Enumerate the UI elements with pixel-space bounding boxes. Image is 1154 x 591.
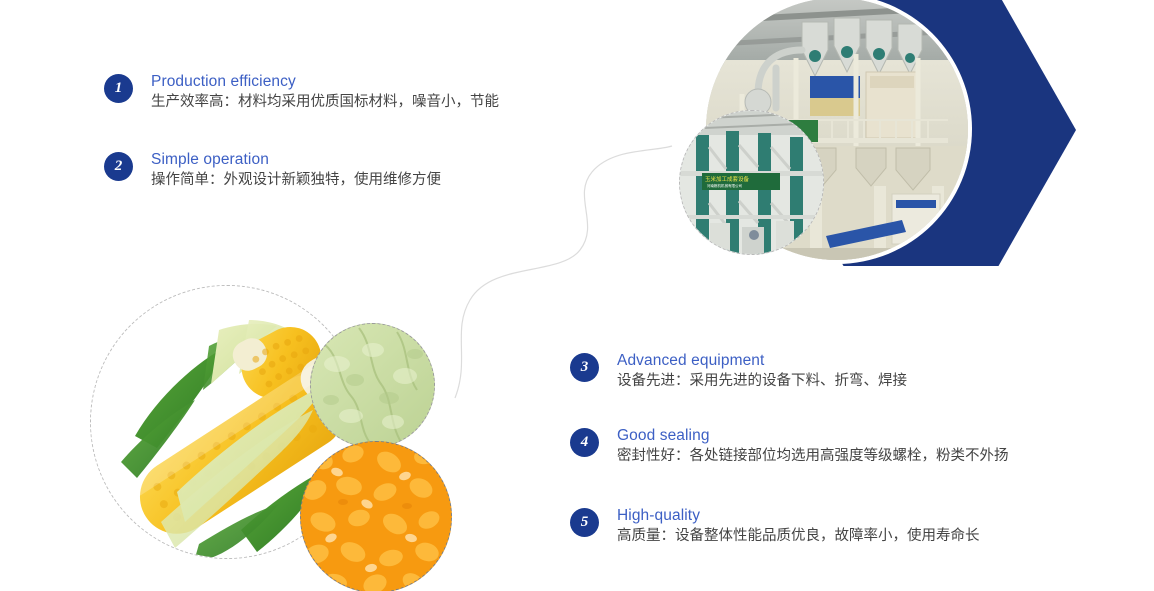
feature-desc-1: 生产效率高：材料均采用优质国标材料，噪音小，节能 [151, 92, 499, 113]
feature-text-1: Production efficiency 生产效率高：材料均采用优质国标材料，… [151, 72, 499, 113]
feature-badge-2: 2 [104, 152, 133, 181]
green-corn-paste-photo [310, 323, 435, 448]
feature-badge-5: 5 [570, 508, 599, 537]
svg-text:河南粮机机械有限公司: 河南粮机机械有限公司 [707, 183, 742, 188]
feature-item-2[interactable]: 2 Simple operation 操作简单：外观设计新颖独特，使用维修方便 [104, 150, 441, 191]
feature-text-5: High-quality 高质量：设备整体性能品质优良，故障率小，使用寿命长 [617, 506, 980, 547]
promo-feature-banner: 玉米加工成套设备 河南粮机机械有限公司 [0, 0, 1154, 591]
corn-product-photo-group [84, 283, 484, 591]
orange-corn-grits-photo [300, 441, 452, 591]
green-milling-machinery-photo: 玉米加工成套设备 河南粮机机械有限公司 [679, 110, 824, 255]
feature-badge-1: 1 [104, 74, 133, 103]
feature-item-1[interactable]: 1 Production efficiency 生产效率高：材料均采用优质国标材… [104, 72, 499, 113]
feature-title-2: Simple operation [151, 150, 441, 169]
svg-text:玉米加工成套设备: 玉米加工成套设备 [705, 175, 750, 183]
feature-title-1: Production efficiency [151, 72, 499, 91]
plant-photo-group: 玉米加工成套设备 河南粮机机械有限公司 [660, 0, 1154, 284]
feature-text-4: Good sealing 密封性好：各处链接部位均选用高强度等级螺栓，粉类不外扬 [617, 426, 1009, 467]
feature-badge-3: 3 [570, 353, 599, 382]
feature-badge-4: 4 [570, 428, 599, 457]
feature-text-3: Advanced equipment 设备先进：采用先进的设备下料、折弯、焊接 [617, 351, 907, 392]
feature-text-2: Simple operation 操作简单：外观设计新颖独特，使用维修方便 [151, 150, 441, 191]
feature-title-5: High-quality [617, 506, 980, 525]
feature-desc-2: 操作简单：外观设计新颖独特，使用维修方便 [151, 170, 441, 191]
feature-item-5[interactable]: 5 High-quality 高质量：设备整体性能品质优良，故障率小，使用寿命长 [570, 506, 980, 547]
feature-item-4[interactable]: 4 Good sealing 密封性好：各处链接部位均选用高强度等级螺栓，粉类不… [570, 426, 1009, 467]
feature-desc-3: 设备先进：采用先进的设备下料、折弯、焊接 [617, 371, 907, 392]
feature-title-3: Advanced equipment [617, 351, 907, 370]
feature-desc-5: 高质量：设备整体性能品质优良，故障率小，使用寿命长 [617, 526, 980, 547]
feature-desc-4: 密封性好：各处链接部位均选用高强度等级螺栓，粉类不外扬 [617, 446, 1009, 467]
feature-title-4: Good sealing [617, 426, 1009, 445]
feature-item-3[interactable]: 3 Advanced equipment 设备先进：采用先进的设备下料、折弯、焊… [570, 351, 907, 392]
